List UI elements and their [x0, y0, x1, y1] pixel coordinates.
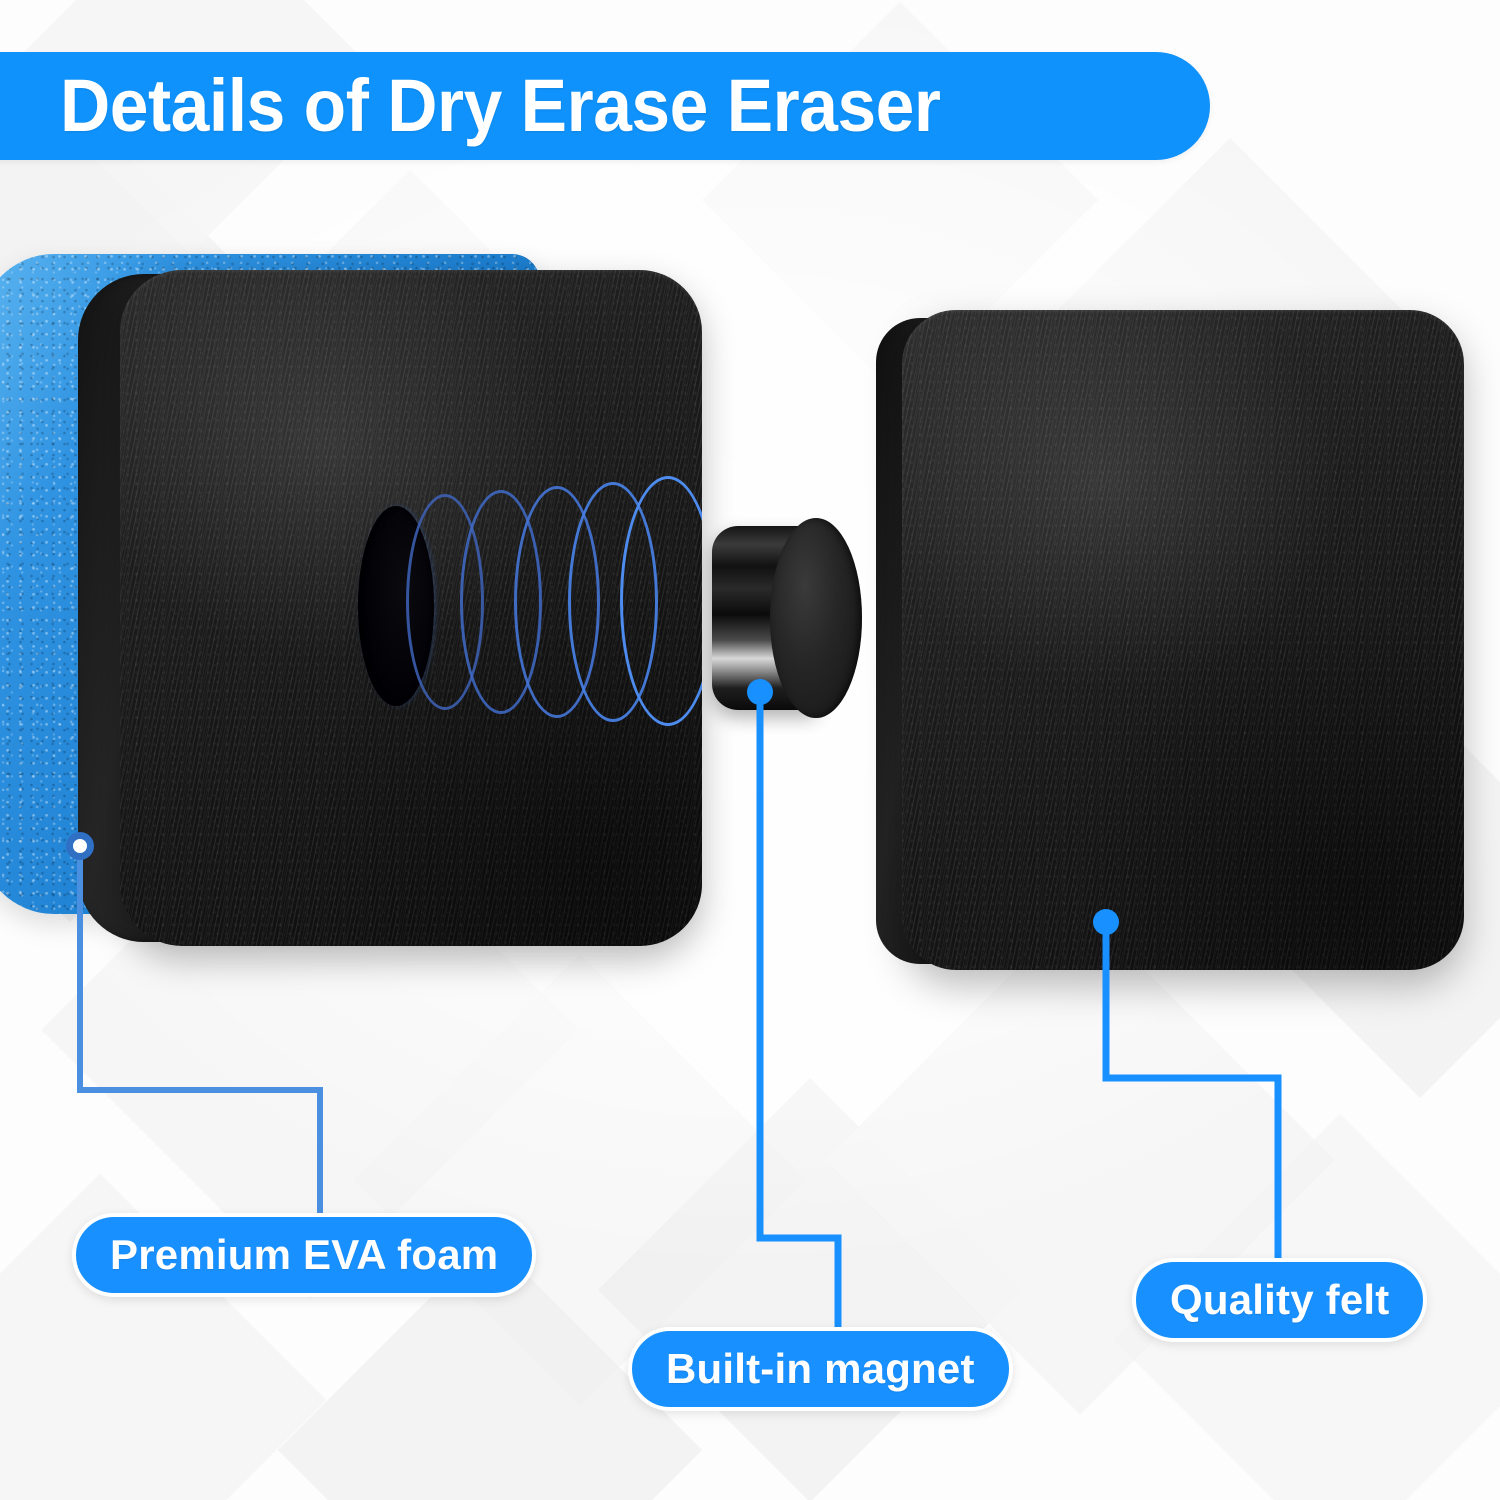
eraser-felt-right [876, 310, 1466, 970]
infographic-canvas: Details of Dry Erase Eraser [0, 0, 1500, 1500]
felt-face-left [120, 270, 702, 946]
magnet-front-face [770, 518, 862, 718]
marker-built-in-magnet[interactable] [747, 679, 773, 705]
felt-texture [902, 310, 1464, 970]
disc-magnet [712, 518, 872, 718]
page-title-banner: Details of Dry Erase Eraser [0, 52, 1210, 160]
label-quality-felt[interactable]: Quality felt [1132, 1258, 1427, 1342]
page-title: Details of Dry Erase Eraser [60, 69, 940, 143]
label-built-in-magnet[interactable]: Built-in magnet [628, 1327, 1013, 1411]
marker-quality-felt[interactable] [1093, 909, 1119, 935]
label-premium-eva-foam[interactable]: Premium EVA foam [72, 1213, 536, 1297]
marker-eva-foam[interactable] [66, 832, 94, 860]
felt-face-right [902, 310, 1464, 970]
eraser-exploded-left [0, 248, 720, 960]
